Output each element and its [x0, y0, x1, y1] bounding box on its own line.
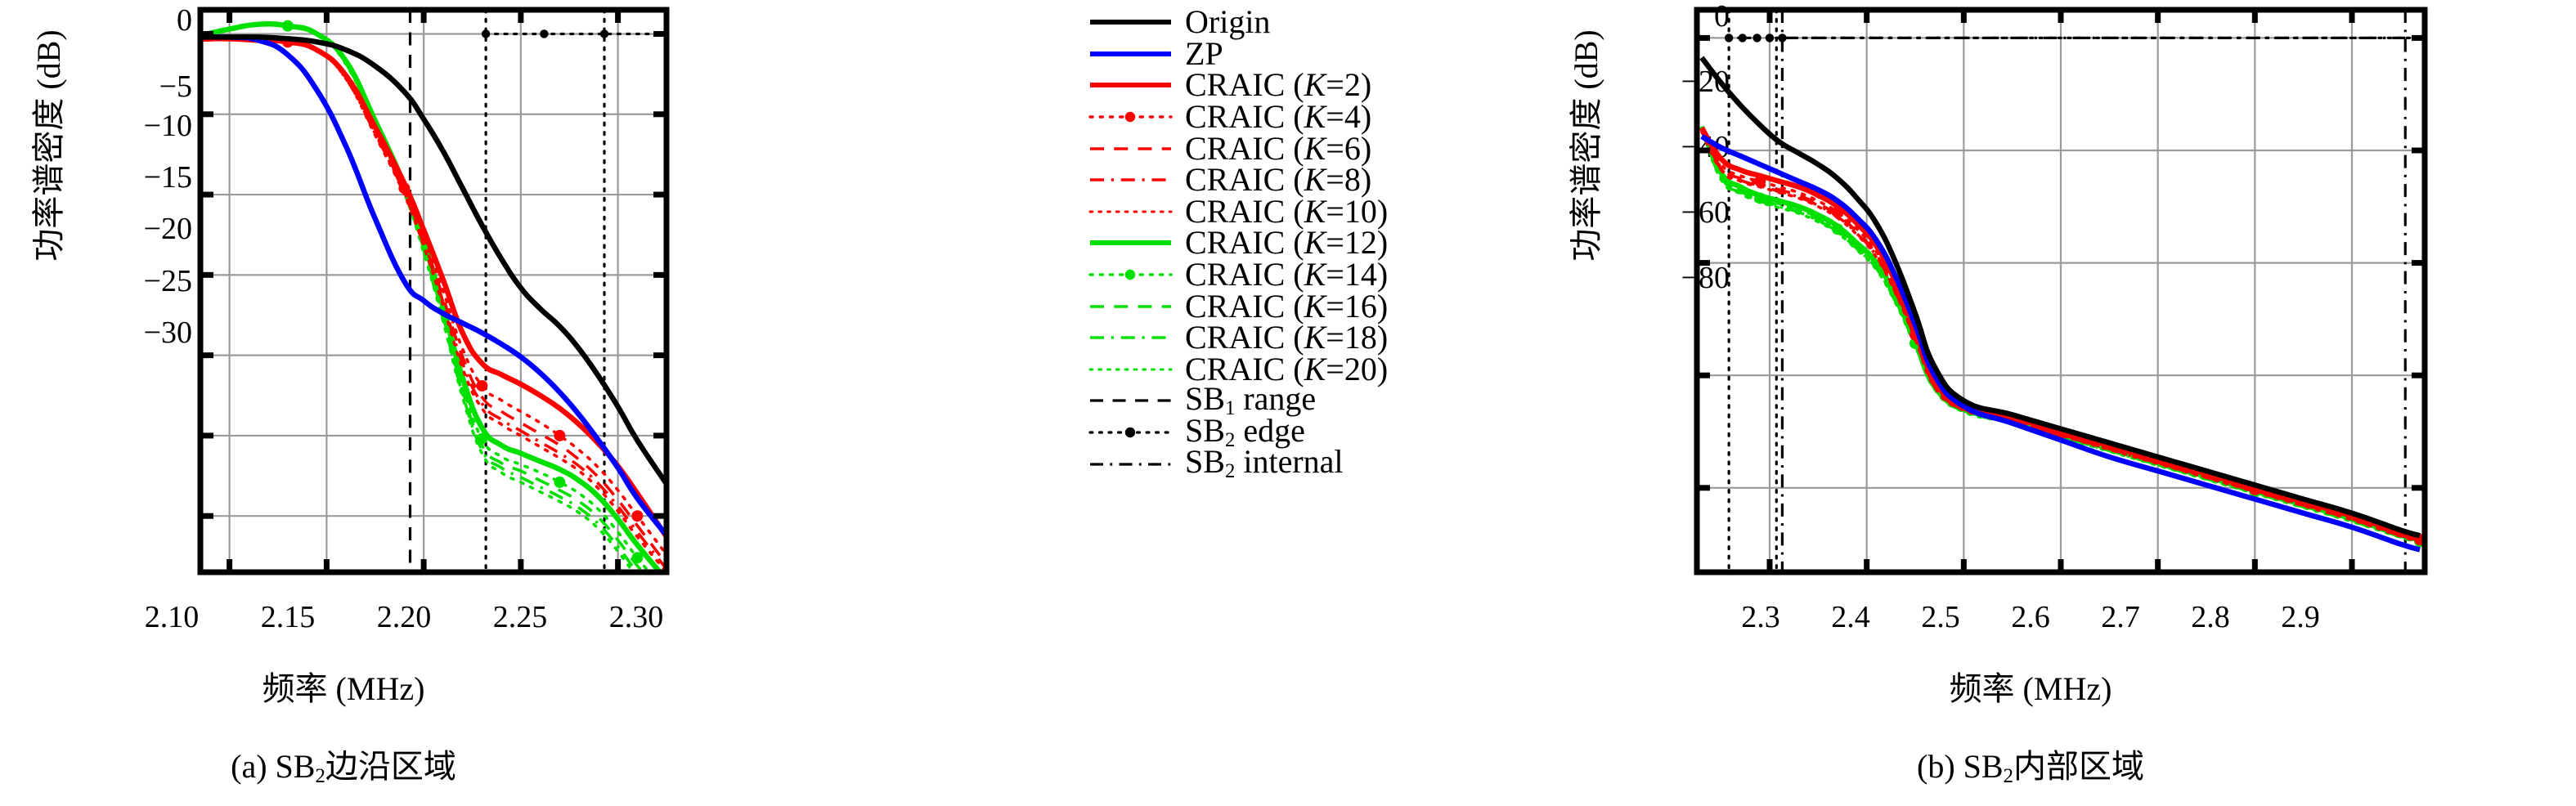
legend-label-5: CRAIC (K=8)	[1185, 163, 1371, 196]
legend: OriginZPCRAIC (K=2)CRAIC (K=4)CRAIC (K=6…	[1088, 7, 1595, 497]
panel-b-sb2-internal: 功率谱密度 (dB) 0 −20 −40 −60 −80 2.3 2.4 2.5…	[1554, 0, 2576, 806]
legend-line-sample-4	[1088, 133, 1174, 164]
panel-a-caption-sub: 2	[315, 765, 325, 787]
panel-a-sb2-edge: 功率谱密度 (dB) 0 −5 −10 −15 −20 −25 −30 2.10…	[0, 0, 1030, 806]
legend-item-7[interactable]: CRAIC (K=12)	[1088, 227, 1595, 259]
legend-item-11[interactable]: CRAIC (K=20)	[1088, 354, 1595, 386]
panel-a-xtick-220: 2.20	[347, 599, 461, 635]
legend-label-0: Origin	[1185, 6, 1270, 38]
panel-b-caption-pre: (b) SB	[1917, 748, 2004, 785]
legend-label-1: ZP	[1185, 38, 1223, 70]
panel-b-xtick-23: 2.3	[1712, 599, 1810, 635]
panel-b-xtick-24: 2.4	[1802, 599, 1900, 635]
legend-line-sample-5	[1088, 164, 1174, 195]
legend-label-6: CRAIC (K=10)	[1185, 195, 1388, 228]
panel-b-xtick-29: 2.9	[2251, 599, 2349, 635]
legend-item-10[interactable]: CRAIC (K=18)	[1088, 322, 1595, 354]
legend-label-10: CRAIC (K=18)	[1185, 321, 1388, 354]
legend-item-3[interactable]: CRAIC (K=4)	[1088, 101, 1595, 133]
legend-line-sample-13	[1088, 417, 1174, 448]
legend-line-sample-12	[1088, 385, 1174, 416]
legend-item-14[interactable]: SB2 internal	[1088, 448, 1595, 480]
legend-label-3: CRAIC (K=4)	[1185, 101, 1371, 133]
legend-label-8: CRAIC (K=14)	[1185, 258, 1388, 291]
panel-a-xtick-210: 2.10	[114, 599, 229, 635]
legend-line-sample-7	[1088, 227, 1174, 258]
panel-b-xtick-26: 2.6	[1981, 599, 2080, 635]
legend-line-sample-14	[1088, 449, 1174, 480]
legend-item-0[interactable]: Origin	[1088, 7, 1595, 38]
legend-label-7: CRAIC (K=12)	[1185, 226, 1388, 259]
legend-item-6[interactable]: CRAIC (K=10)	[1088, 196, 1595, 228]
legend-line-sample-6	[1088, 196, 1174, 227]
legend-item-9[interactable]: CRAIC (K=16)	[1088, 290, 1595, 322]
legend-line-sample-11	[1088, 354, 1174, 385]
legend-label-2: CRAIC (K=2)	[1185, 69, 1371, 101]
legend-item-2[interactable]: CRAIC (K=2)	[1088, 69, 1595, 101]
legend-line-sample-3	[1088, 101, 1174, 132]
panel-b-caption-sub: 2	[2004, 765, 2013, 787]
panel-b-xtick-25: 2.5	[1892, 599, 1990, 635]
panel-a-caption-post: 边沿区域	[325, 748, 456, 785]
figure-root: 功率谱密度 (dB) 0 −5 −10 −15 −20 −25 −30 2.10…	[0, 0, 2576, 806]
legend-line-sample-9	[1088, 291, 1174, 322]
panel-b-caption-post: 内部区域	[2013, 748, 2144, 785]
legend-line-sample-0	[1088, 7, 1174, 38]
legend-item-1[interactable]: ZP	[1088, 38, 1595, 70]
legend-item-5[interactable]: CRAIC (K=8)	[1088, 164, 1595, 196]
panel-a-caption-pre: (a) SB	[231, 748, 315, 785]
panel-b-xlabel: 频率 (MHz)	[1810, 662, 2251, 710]
legend-line-sample-10	[1088, 322, 1174, 353]
panel-a-xtick-215: 2.15	[231, 599, 345, 635]
legend-item-12[interactable]: SB1 range	[1088, 385, 1595, 417]
panel-b-caption: (b) SB2内部区域	[1810, 740, 2251, 788]
panel-b-xtick-27: 2.7	[2071, 599, 2170, 635]
legend-label-9: CRAIC (K=16)	[1185, 290, 1388, 323]
legend-item-4[interactable]: CRAIC (K=6)	[1088, 132, 1595, 164]
legend-item-8[interactable]: CRAIC (K=14)	[1088, 259, 1595, 291]
panel-a-caption: (a) SB2边沿区域	[123, 740, 564, 788]
panel-a-xtick-225: 2.25	[463, 599, 577, 635]
panel-b-xtick-28: 2.8	[2161, 599, 2260, 635]
legend-line-sample-8	[1088, 259, 1174, 290]
panel-a-xtick-230: 2.30	[579, 599, 693, 635]
legend-line-sample-2	[1088, 69, 1174, 101]
panel-a-xlabel: 频率 (MHz)	[123, 662, 564, 710]
legend-line-sample-1	[1088, 38, 1174, 69]
legend-label-4: CRAIC (K=6)	[1185, 132, 1371, 165]
legend-label-14: SB2 internal	[1185, 446, 1344, 482]
